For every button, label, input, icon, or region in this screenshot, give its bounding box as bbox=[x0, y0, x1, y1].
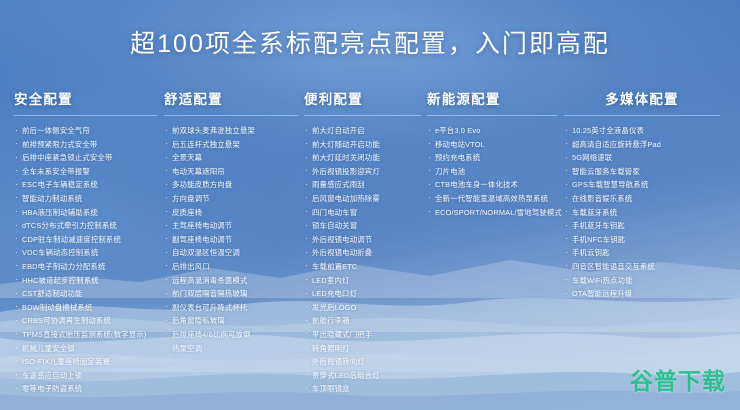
column-title-multimedia: 多媒体配置 bbox=[564, 88, 720, 116]
list-item: 前大灯自动开启 bbox=[304, 124, 421, 138]
list-item: e平台3.0 Evo bbox=[427, 124, 558, 138]
config-column-new-energy: 新能源配置 e平台3.0 Evo 移动电站VTOL 预约充电系统 刀片电池 CT… bbox=[427, 88, 564, 219]
list-item: 外后视镜电动调节 bbox=[304, 233, 421, 247]
config-column-multimedia: 多媒体配置 10.25英寸全液晶仪表 超高清自适应旋转悬浮Pad 5G网络速联 … bbox=[564, 88, 726, 301]
list-item: dTCS分布式牵引力控制系统 bbox=[14, 219, 158, 233]
list-item: 后排出风口 bbox=[164, 260, 298, 274]
config-list-comfort: 前双球头麦弗逊独立悬架 后五连杆式独立悬架 全景天幕 电动天幕遮阳帘 多功能皮质… bbox=[164, 124, 298, 355]
config-list-multimedia: 10.25英寸全液晶仪表 超高清自适应旋转悬浮Pad 5G网络速联 智能云服务车… bbox=[564, 124, 720, 301]
list-item: 全新一代智能宽温域高效热泵系统 bbox=[427, 192, 558, 206]
list-item: 前双球头麦弗逊独立悬架 bbox=[164, 124, 298, 138]
list-item: 副驾座椅电动调节 bbox=[164, 233, 298, 247]
list-item: 前门双层隔音隔热玻璃 bbox=[164, 287, 298, 301]
list-item: CRBS可协调再生制动系统 bbox=[14, 314, 158, 328]
list-item: 全景天幕 bbox=[164, 151, 298, 165]
list-item: 自动双温区恒温空调 bbox=[164, 246, 298, 260]
promo-slide: 超100项全系标配亮点配置，入门即高配 安全配置 前后一体侧安全气帘 前排预紧限… bbox=[0, 0, 740, 410]
list-item: 预约充电系统 bbox=[427, 151, 558, 165]
config-list-convenience: 前大灯自动开启 前大灯随动开启功能 前大灯延时关闭功能 外后视镜投影迎宾灯 雨量… bbox=[304, 124, 421, 396]
list-item: 锁车自动关窗 bbox=[304, 219, 421, 233]
list-item: 后角窗隐私玻璃 bbox=[164, 314, 298, 328]
list-item: 后排座椅4/6比例可放倒 bbox=[164, 328, 298, 342]
column-title-convenience: 便利配置 bbox=[304, 88, 421, 116]
slide-title-container: 超100项全系标配亮点配置，入门即高配 bbox=[0, 24, 740, 60]
list-item: 手机蓝牙车钥匙 bbox=[564, 219, 720, 233]
list-item: EBD电子制动力分配系统 bbox=[14, 260, 158, 274]
config-column-safety: 安全配置 前后一体侧安全气帘 前排预紧限力式安全带 后排中座紧急锁止式安全带 全… bbox=[14, 88, 164, 396]
list-item: GPS车载智慧导航系统 bbox=[564, 178, 720, 192]
list-item: 远程高温消毒杀菌模式 bbox=[164, 274, 298, 288]
list-item: LED室内灯 bbox=[304, 274, 421, 288]
list-item: 雨量感应式雨刮 bbox=[304, 178, 421, 192]
list-item: 外后视镜转向灯 bbox=[304, 355, 421, 369]
list-item: CST舒适制动功能 bbox=[14, 287, 158, 301]
list-item: 全车未系安全带报警 bbox=[14, 165, 158, 179]
list-item: 方向盘调节 bbox=[164, 192, 298, 206]
config-list-new-energy: e平台3.0 Evo 移动电站VTOL 预约充电系统 刀片电池 CTB电池车身一… bbox=[427, 124, 558, 219]
list-item: 后风窗电动加热除雾 bbox=[304, 192, 421, 206]
list-item: 10.25英寸全液晶仪表 bbox=[564, 124, 720, 138]
list-item: 多功能皮质方向盘 bbox=[164, 178, 298, 192]
list-item: 智能动力制动系统 bbox=[14, 192, 158, 206]
list-item: 5G网络速联 bbox=[564, 151, 720, 165]
list-item: 超高清自适应旋转悬浮Pad bbox=[564, 138, 720, 152]
config-list-safety: 前后一体侧安全气帘 前排预紧限力式安全带 后排中座紧急锁止式安全带 全车未系安全… bbox=[14, 124, 158, 396]
list-item: TPMS直接式胎压监测系统(数字显示) bbox=[14, 328, 158, 342]
list-item: 前大灯随动开启功能 bbox=[304, 138, 421, 152]
list-item: 后排中座紧急锁止式安全带 bbox=[14, 151, 158, 165]
list-item: 外后视镜投影迎宾灯 bbox=[304, 165, 421, 179]
column-title-new-energy: 新能源配置 bbox=[427, 88, 558, 116]
list-item: ECO/SPORT/NORMAL/雪地驾驶模式 bbox=[427, 206, 558, 220]
list-item: BDW制动盘擦拭系统 bbox=[14, 301, 158, 315]
list-item: 副仪表台可升降式杯托 bbox=[164, 301, 298, 315]
list-item: 主驾座椅电动调节 bbox=[164, 219, 298, 233]
column-title-comfort: 舒适配置 bbox=[164, 88, 298, 116]
page-title: 超100项全系标配亮点配置，入门即高配 bbox=[130, 24, 610, 60]
list-item: 在线影音娱乐系统 bbox=[564, 192, 720, 206]
list-item: 车载WiFi热点功能 bbox=[564, 274, 720, 288]
configuration-columns: 安全配置 前后一体侧安全气帘 前排预紧限力式安全带 后排中座紧急锁止式安全带 全… bbox=[0, 88, 740, 396]
list-item: 前排预紧限力式安全带 bbox=[14, 138, 158, 152]
list-item: 后五连杆式独立悬架 bbox=[164, 138, 298, 152]
list-item: 外后视镜电动折叠 bbox=[304, 246, 421, 260]
list-item: ISO-FIX儿童座椅固定装置 bbox=[14, 355, 158, 369]
list-item: LED充电口灯 bbox=[304, 287, 421, 301]
list-item: 四门电动车窗 bbox=[304, 206, 421, 220]
list-item: 手机云钥匙 bbox=[564, 246, 720, 260]
list-item: 前大灯延时关闭功能 bbox=[304, 151, 421, 165]
list-item: 车速感应自动上锁 bbox=[14, 369, 158, 383]
list-item: 车载前置ETC bbox=[304, 260, 421, 274]
list-item: 转角照明灯 bbox=[304, 342, 421, 356]
list-item: 刀片电池 bbox=[427, 165, 558, 179]
list-item: ESC电子车辆稳定系统 bbox=[14, 178, 158, 192]
list-item: CDP驻车制动减速度控制系统 bbox=[14, 233, 158, 247]
list-item: 车顶眼镜盒 bbox=[304, 382, 421, 396]
list-item: CTB电池车身一体化技术 bbox=[427, 178, 558, 192]
list-item: 移动电站VTOL bbox=[427, 138, 558, 152]
list-item: 智能云服务车载管家 bbox=[564, 165, 720, 179]
column-title-safety: 安全配置 bbox=[14, 88, 158, 116]
list-item: VDC车辆动态控制系统 bbox=[14, 246, 158, 260]
list-item: 皮质座椅 bbox=[164, 206, 298, 220]
list-item: 平出隐藏式门把手 bbox=[304, 328, 421, 342]
list-item: 前后一体侧安全气帘 bbox=[14, 124, 158, 138]
list-item: 四音区智能语音交互系统 bbox=[564, 260, 720, 274]
list-item: 手机NFC车钥匙 bbox=[564, 233, 720, 247]
config-column-comfort: 舒适配置 前双球头麦弗逊独立悬架 后五连杆式独立悬架 全景天幕 电动天幕遮阳帘 … bbox=[164, 88, 304, 355]
list-item: 热泵空调 bbox=[164, 342, 298, 356]
list-item: OTA智能远程升级 bbox=[564, 287, 720, 301]
list-item: HHC坡道起步控制系统 bbox=[14, 274, 158, 288]
list-item: 车载蓝牙系统 bbox=[564, 206, 720, 220]
list-item: 前舱行李箱 bbox=[304, 314, 421, 328]
site-watermark: 谷普下载 bbox=[630, 362, 726, 396]
list-item: HBA液压制动辅助系统 bbox=[14, 206, 158, 220]
list-item: 零等电子防盗系统 bbox=[14, 382, 158, 396]
list-item: 电动天幕遮阳帘 bbox=[164, 165, 298, 179]
list-item: 发光后LOGO bbox=[304, 301, 421, 315]
config-column-convenience: 便利配置 前大灯自动开启 前大灯随动开启功能 前大灯延时关闭功能 外后视镜投影迎… bbox=[304, 88, 427, 396]
list-item: 机械儿童安全锁 bbox=[14, 342, 158, 356]
list-item: 贯穿式LED后组合灯 bbox=[304, 369, 421, 383]
